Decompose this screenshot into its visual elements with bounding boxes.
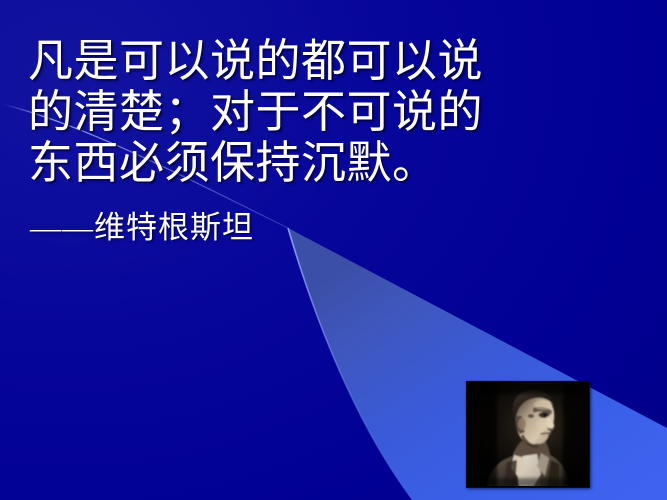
- quote-line-1: 凡是可以说的都可以说: [28, 36, 520, 87]
- quote-line-3: 东西必须保持沉默。: [28, 138, 520, 189]
- quote-attribution: ——维特根斯坦: [30, 209, 254, 247]
- portrait-photo-wittgenstein: [467, 382, 589, 487]
- portrait-frame: [466, 381, 590, 488]
- presentation-slide: 凡是可以说的都可以说 的清楚；对于不可说的 东西必须保持沉默。 ——维特根斯坦: [0, 0, 667, 500]
- quote-text-block: 凡是可以说的都可以说 的清楚；对于不可说的 东西必须保持沉默。: [28, 36, 520, 189]
- quote-line-2: 的清楚；对于不可说的: [28, 87, 520, 138]
